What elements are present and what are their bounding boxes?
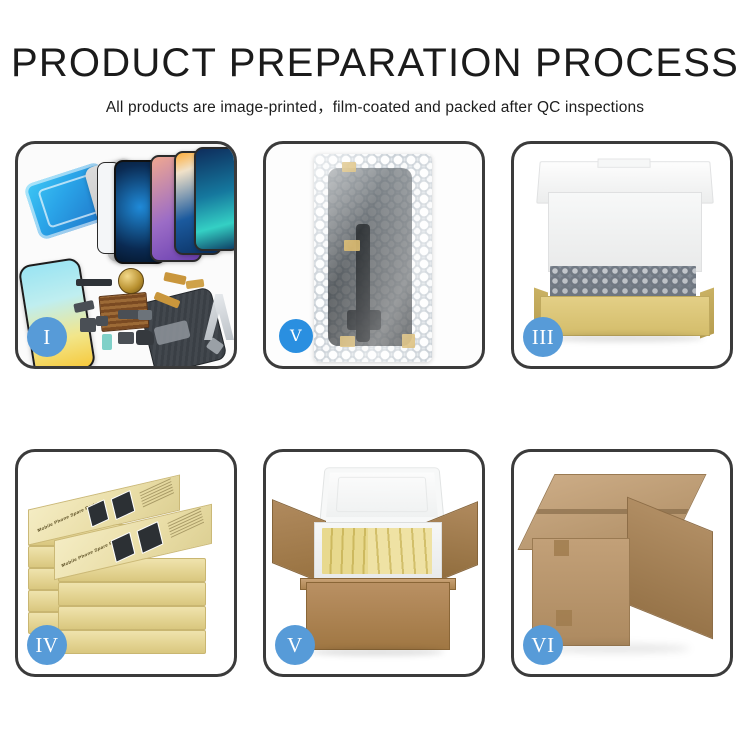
vibration-motor <box>118 268 144 294</box>
step-panel-6[interactable]: VI <box>511 449 733 677</box>
box-inner-back <box>548 192 702 272</box>
step-badge-4: IV <box>27 625 67 665</box>
step-panel-1[interactable]: I <box>15 141 237 369</box>
part-bracket-b <box>80 318 96 332</box>
step-badge-6: VI <box>523 625 563 665</box>
part-bracket-c <box>118 332 134 344</box>
page-title: PRODUCT PREPARATION PROCESS <box>0 42 750 84</box>
step-badge-2: Ⅴ <box>279 319 313 353</box>
part-camera-module <box>136 330 154 345</box>
part-flex-gold-a <box>163 272 186 285</box>
page-subtitle: All products are image-printed，film-coat… <box>0 95 750 117</box>
plastic-sheen <box>314 154 432 362</box>
bubble-wrap-package <box>314 154 432 362</box>
step-badge-3: III <box>523 317 563 357</box>
part-speaker-mesh <box>76 279 112 286</box>
part-sim-tray <box>102 334 112 350</box>
carton-side-face <box>627 497 713 640</box>
box-shadow <box>546 334 704 342</box>
box-window-front-a <box>111 532 136 563</box>
box-window-front-b <box>136 521 163 554</box>
stack-box-f-2 <box>58 582 206 606</box>
part-screw-plate <box>96 316 108 326</box>
carton-tape-lower <box>556 610 572 626</box>
step-panel-4[interactable]: Mobile Phone Spare Parts <box>15 449 237 677</box>
box-front-panel <box>540 296 710 336</box>
carton-shadow <box>310 648 444 656</box>
stack-box-f-3 <box>58 606 206 630</box>
step-panel-3[interactable]: III <box>511 141 733 369</box>
carton-front <box>306 582 450 650</box>
bubble-foam-layer <box>550 266 696 300</box>
carton-tape-upper <box>554 540 569 556</box>
box-spec-lines-back <box>139 478 174 509</box>
foam-lid <box>319 467 444 523</box>
box-window-back-b <box>111 490 136 520</box>
yellow-boxes-inside <box>322 528 432 574</box>
steps-row-bottom: Mobile Phone Spare Parts <box>15 449 737 677</box>
steps-grid: I Ⅴ <box>15 141 737 677</box>
product-preparation-infographic: PRODUCT PREPARATION PROCESS All products… <box>0 0 750 750</box>
box-spec-lines-front <box>167 508 204 540</box>
stack-box-f-4 <box>58 630 206 654</box>
step-panel-5[interactable]: V <box>263 449 485 677</box>
steps-row-top: I Ⅴ <box>15 141 737 369</box>
step-badge-1: I <box>27 317 67 357</box>
part-shield-can <box>138 310 152 320</box>
step-badge-5: V <box>275 625 315 665</box>
phone-display-e <box>194 147 234 251</box>
step-panel-2[interactable]: Ⅴ <box>263 141 485 369</box>
header: PRODUCT PREPARATION PROCESS All products… <box>0 0 750 117</box>
